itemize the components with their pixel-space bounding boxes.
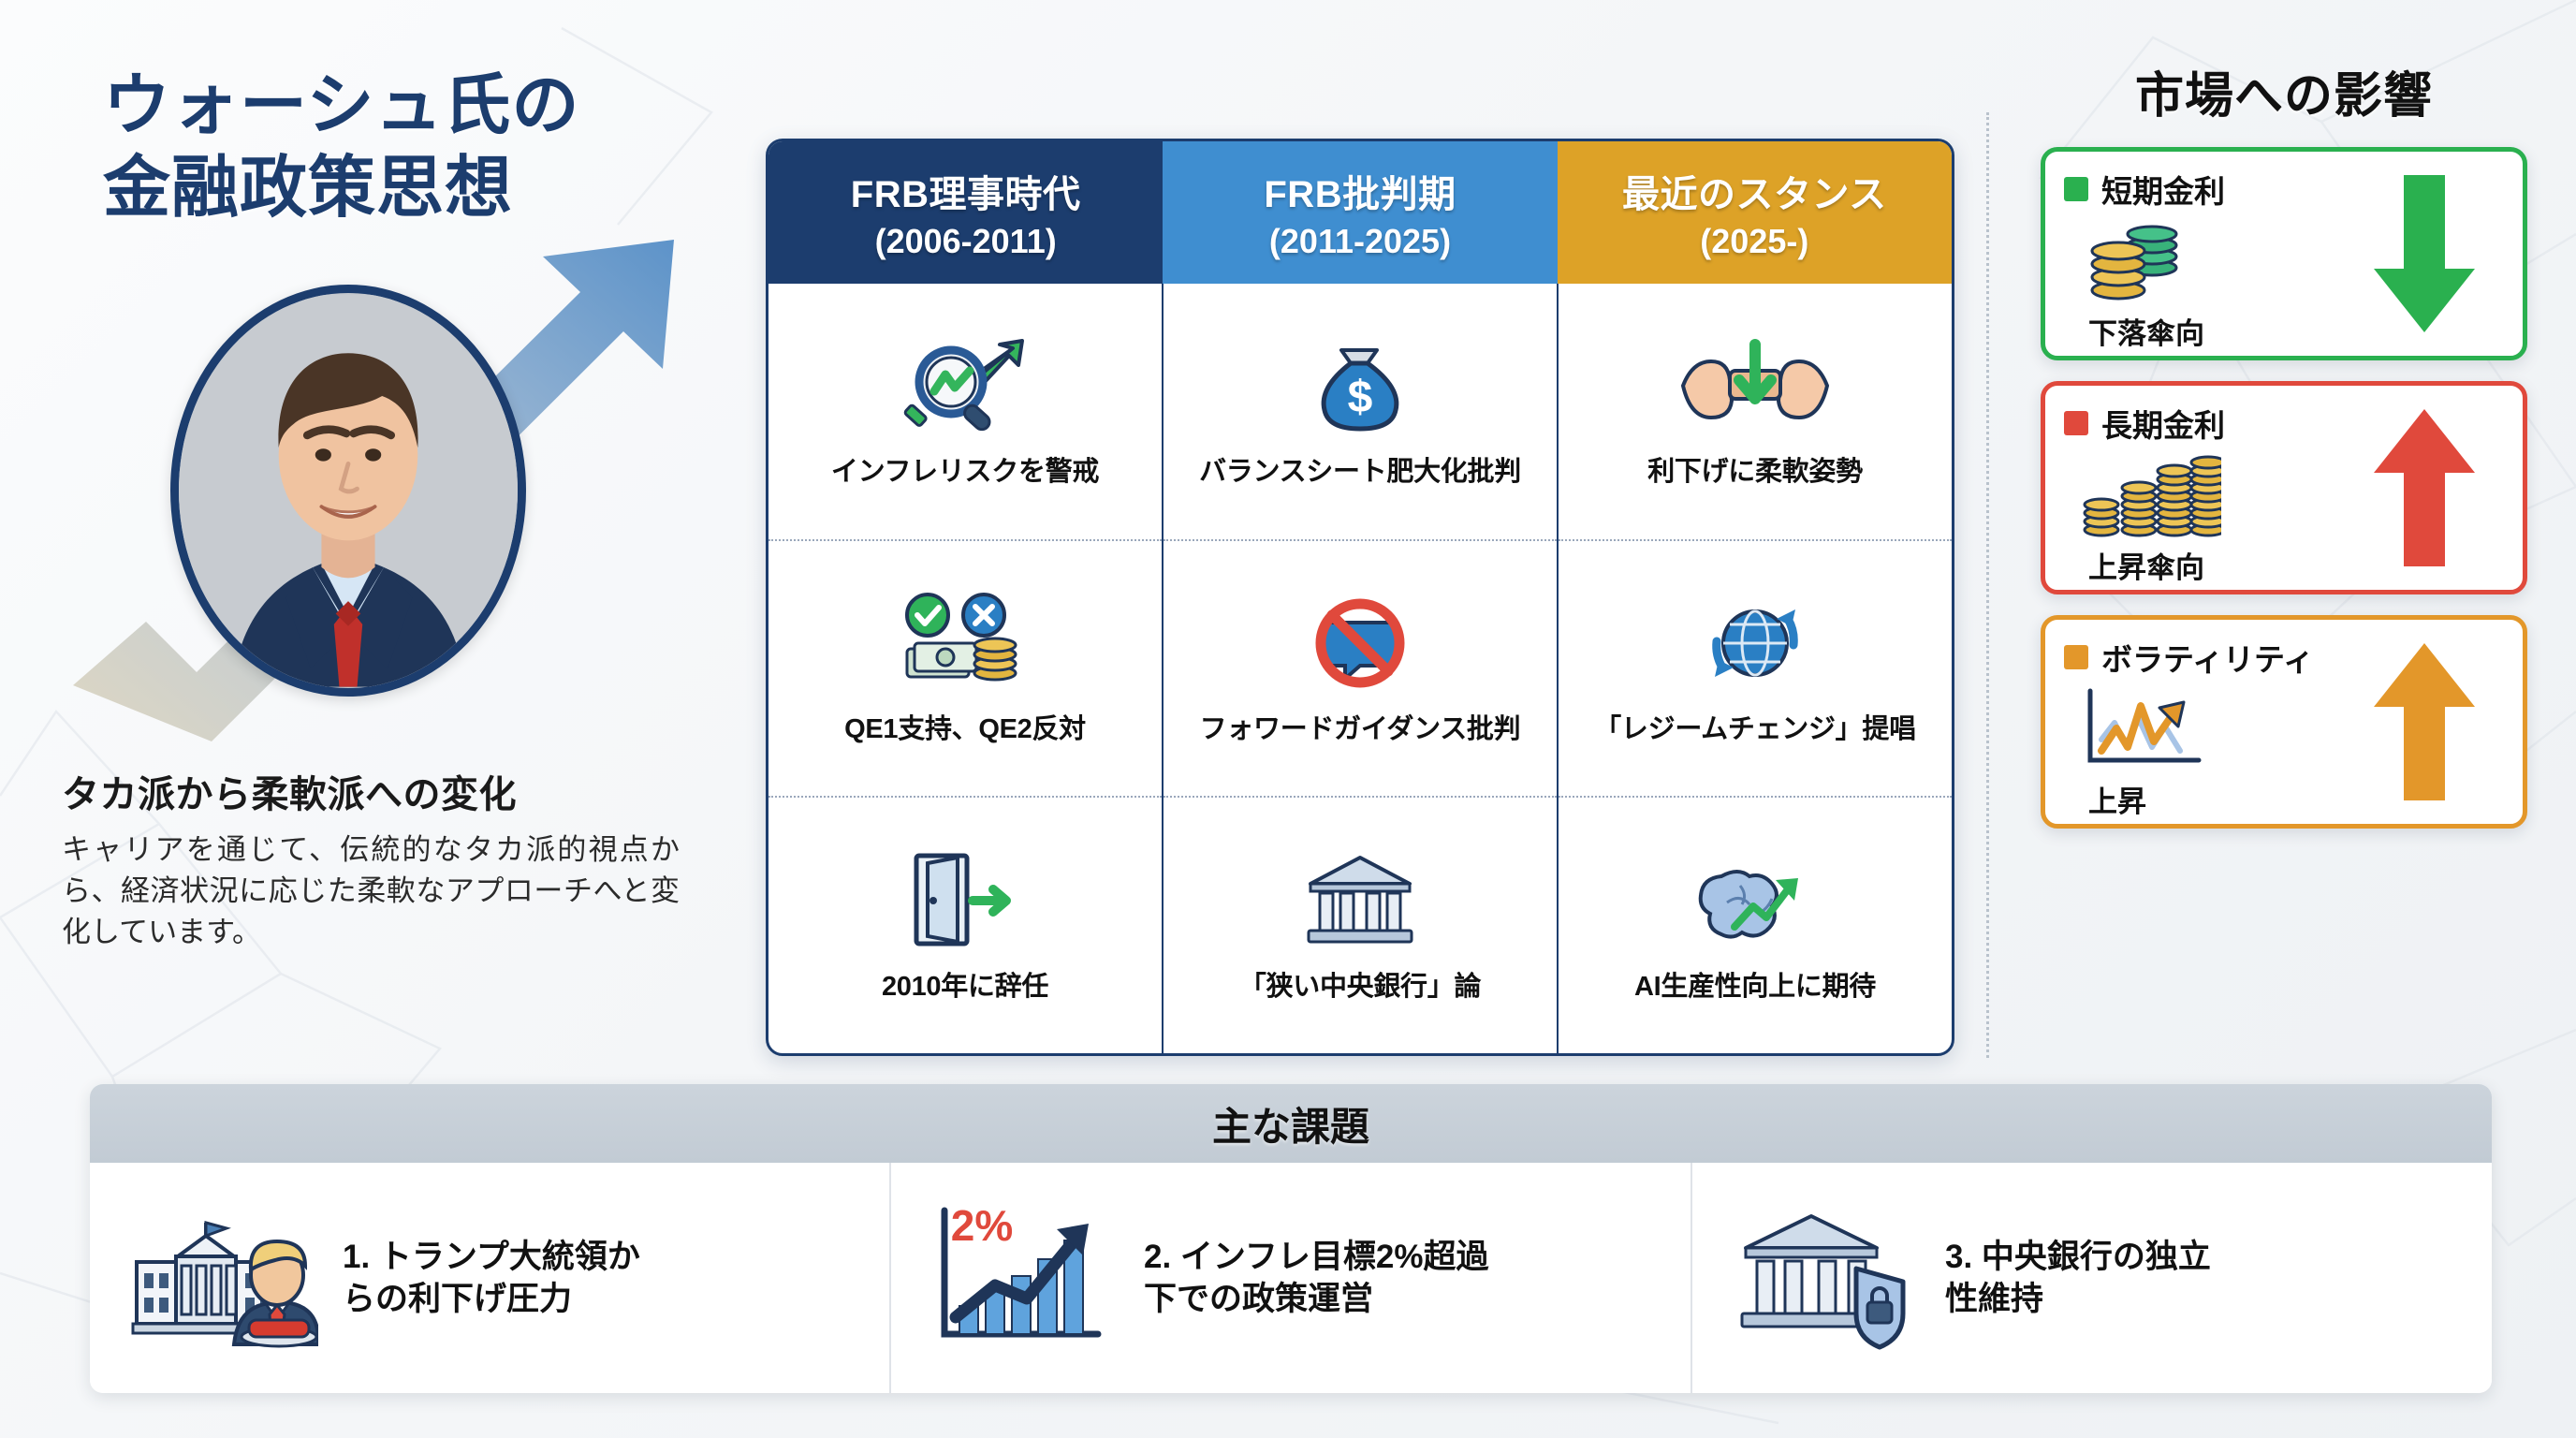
table-cell: 「狭い中央銀行」論 [1164,798,1557,1053]
legend-swatch [2064,411,2088,435]
table-cell: $ バランスシート肥大化批判 [1164,284,1557,541]
table-cell: 「レジームチェンジ」提唱 [1559,541,1952,799]
no-speech-bubble-icon [1304,591,1416,694]
table-cell-label: AI生産性向上に期待 [1634,964,1876,1004]
table-header-row: FRB理事時代 (2006-2011) FRB批判期 (2011-2025) 最… [768,141,1952,284]
up-arrow-icon [2345,401,2504,575]
bank-shield-lock-icon [1724,1198,1921,1357]
challenge-text-line-2: 下での政策運営 [1144,1278,1488,1321]
table-column-recent-stance: 利下げに柔軟姿勢 [1559,284,1952,1053]
market-card-trend: 上昇傘向 [2088,544,2204,586]
globe-refresh-icon [1694,591,1816,694]
table-cell: 2010年に辞任 [768,798,1162,1053]
portrait-block [56,236,711,760]
market-card-trend: 上昇 [2088,778,2146,820]
challenge-text-line-1: 1. トランプ大統領か [343,1236,640,1279]
market-card-label: 長期金利 [2101,401,2225,446]
table-cell: 利下げに柔軟姿勢 [1559,284,1952,541]
page-title-line-2: 金融政策思想 [103,148,768,230]
table-body: インフレリスクを警戒 [768,284,1952,1053]
legend-swatch [2064,645,2088,669]
market-card-header: 長期金利 [2064,401,2225,446]
table-cell-label: 「レジームチェンジ」提唱 [1594,707,1916,746]
table-cell-label: バランスシート肥大化批判 [1199,449,1521,489]
magnifier-chart-up-icon [895,333,1035,436]
table-cell: インフレリスクを警戒 [768,284,1162,541]
market-impact-panel: 市場への影響 短期金利 [2022,56,2546,829]
market-card-content: 長期金利 [2064,401,2345,575]
svg-text:$: $ [1348,373,1373,422]
table-cell: AI生産性向上に期待 [1559,798,1952,1053]
market-card-content: ボラティリティ 上昇 [2064,635,2345,809]
bank-building-icon [1299,848,1421,951]
infographic-root: ウォーシュ氏の 金融政策思想 [0,0,2576,1438]
table-cell-label: QE1支持、QE2反対 [844,707,1086,746]
table-column-frb-criticism-era: $ バランスシート肥大化批判 フォワードガイダンス批判 [1164,284,1559,1053]
table-cell-label: フォワードガイダンス批判 [1200,707,1521,746]
down-arrow-icon [2345,167,2504,341]
challenge-text-line-1: 3. 中央銀行の独立 [1945,1236,2211,1279]
challenge-item-1: 1. トランプ大統領か らの利下げ圧力 [90,1163,891,1393]
market-impact-title: 市場への影響 [2022,56,2546,126]
svg-text:2%: 2% [951,1203,1013,1250]
coin-stacks-rising-icon [2081,451,2221,542]
left-sub-body: キャリアを通じて、伝統的なタカ派的視点から、経済状況に応じた柔軟なアプローチへと… [62,829,680,953]
market-card-volatility[interactable]: ボラティリティ 上昇 [2041,615,2527,829]
flex-muscle-down-arrow-icon [1676,333,1835,436]
market-card-short-term-rate[interactable]: 短期金利 [2041,147,2527,360]
volatility-line-chart-icon [2081,685,2212,776]
table-header-title: FRB理事時代 [851,164,1081,218]
market-card-trend: 下落傘向 [2088,310,2204,352]
white-house-trump-icon [122,1198,318,1357]
table-column-frb-board-era: インフレリスクを警戒 [768,284,1164,1053]
market-card-header: 短期金利 [2064,167,2225,212]
challenge-text: 2. インフレ目標2%超過 下での政策運営 [1144,1236,1488,1321]
challenge-text-line-1: 2. インフレ目標2%超過 [1144,1236,1488,1279]
coin-stacks-two-icon [2081,217,2193,308]
table-header-frb-criticism-era: FRB批判期 (2011-2025) [1163,141,1557,284]
market-card-header: ボラティリティ [2064,635,2314,680]
challenges-section: 主な課題 [90,1084,2492,1393]
table-header-period: (2025-) [1700,222,1808,261]
challenges-header: 主な課題 [90,1084,2492,1163]
policy-stance-table: FRB理事時代 (2006-2011) FRB批判期 (2011-2025) 最… [766,139,1954,1056]
market-card-label: 短期金利 [2101,167,2225,212]
up-arrow-icon [2345,635,2504,809]
left-sub-heading: タカ派から柔軟派への変化 [62,764,768,818]
table-header-period: (2006-2011) [875,222,1057,261]
avatar [170,285,526,697]
challenge-item-2: 2% 2. インフレ目標2%超過 下での政策運営 [891,1163,1692,1393]
market-card-content: 短期金利 [2064,167,2345,341]
market-card-label: ボラティリティ [2101,635,2314,680]
portrait-illustration [179,293,518,688]
brain-chart-up-icon [1690,848,1821,951]
money-bag-dollar-icon: $ [1304,333,1416,436]
table-cell: QE1支持、QE2反対 [768,541,1162,799]
open-door-exit-icon [900,848,1031,951]
table-header-title: FRB批判期 [1264,164,1456,218]
table-header-frb-board-era: FRB理事時代 (2006-2011) [768,141,1163,284]
challenge-text: 3. 中央銀行の独立 性維持 [1945,1236,2211,1321]
table-cell-label: 2010年に辞任 [882,964,1048,1004]
two-percent-bar-chart-icon: 2% [923,1198,1120,1357]
table-cell-label: 「狭い中央銀行」論 [1239,964,1481,1004]
market-card-long-term-rate[interactable]: 長期金利 [2041,381,2527,594]
table-cell-label: 利下げに柔軟姿勢 [1647,449,1863,489]
left-column: ウォーシュ氏の 金融政策思想 [56,66,768,1058]
challenge-text-line-2: らの利下げ圧力 [343,1278,640,1321]
challenges-body: 1. トランプ大統領か らの利下げ圧力 [90,1163,2492,1393]
challenge-text: 1. トランプ大統領か らの利下げ圧力 [343,1236,640,1321]
legend-swatch [2064,177,2088,201]
check-cross-money-icon [890,591,1040,694]
table-cell: フォワードガイダンス批判 [1164,541,1557,799]
page-title: ウォーシュ氏の 金融政策思想 [103,66,768,230]
challenge-item-3: 3. 中央銀行の独立 性維持 [1692,1163,2492,1393]
page-title-line-1: ウォーシュ氏の [103,66,768,148]
challenges-title: 主な課題 [1212,1095,1369,1152]
table-header-period: (2011-2025) [1269,222,1451,261]
challenge-text-line-2: 性維持 [1945,1278,2211,1321]
table-cell-label: インフレリスクを警戒 [831,449,1099,489]
vertical-divider [1986,112,1989,1058]
table-header-title: 最近のスタンス [1622,164,1887,218]
table-header-recent-stance: 最近のスタンス (2025-) [1558,141,1952,284]
